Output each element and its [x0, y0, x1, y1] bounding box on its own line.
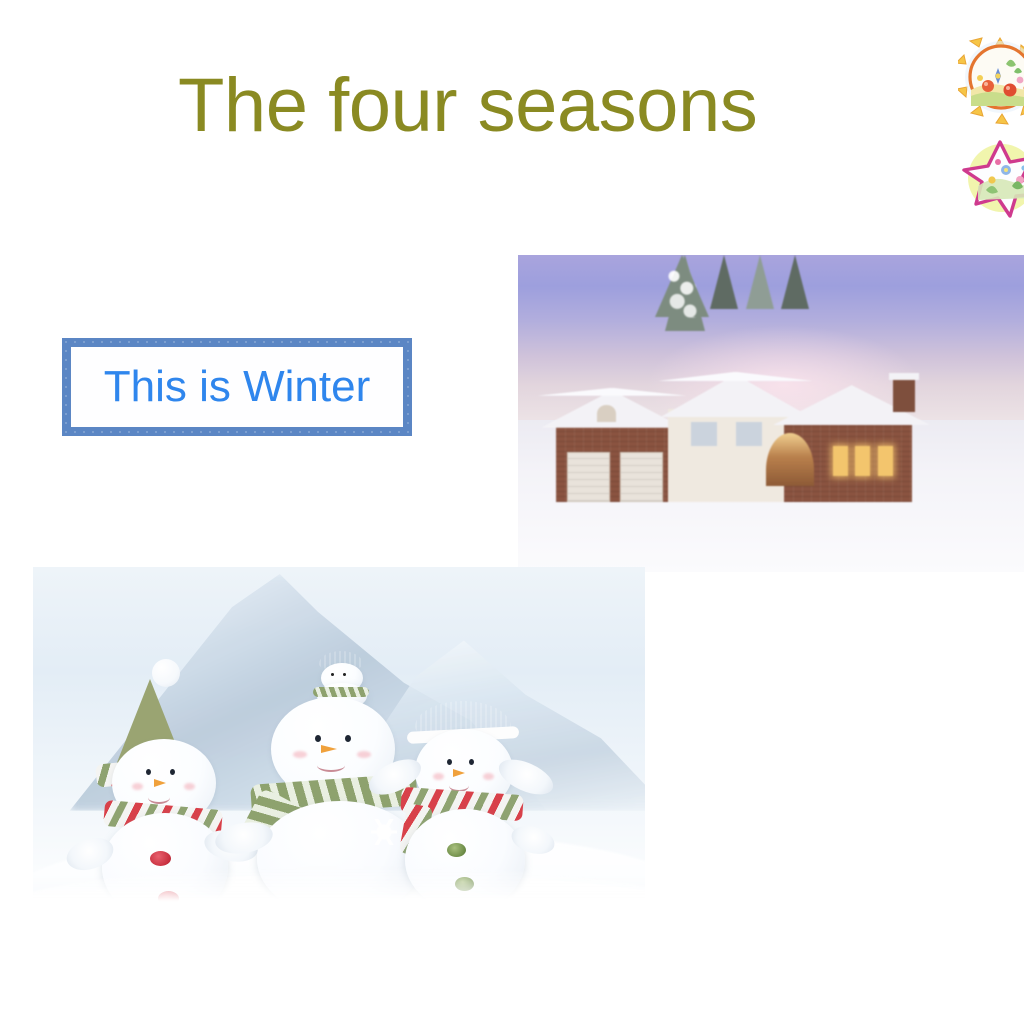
presentation-slide: The four seasons	[0, 0, 1024, 1024]
snowmen-photo[interactable]	[33, 567, 645, 915]
page-title: The four seasons	[178, 68, 878, 144]
sun-flower-badge-clipart	[958, 34, 1024, 130]
snowman-left	[88, 663, 268, 893]
house-structure	[548, 369, 922, 502]
caption-text: This is Winter	[104, 365, 370, 409]
snowy-house-photo[interactable]	[518, 255, 1024, 572]
caption-textbox-winter[interactable]: This is Winter	[62, 338, 412, 436]
star-flower-badge-clipart	[958, 136, 1024, 220]
decorative-clipart-group	[950, 34, 1024, 220]
